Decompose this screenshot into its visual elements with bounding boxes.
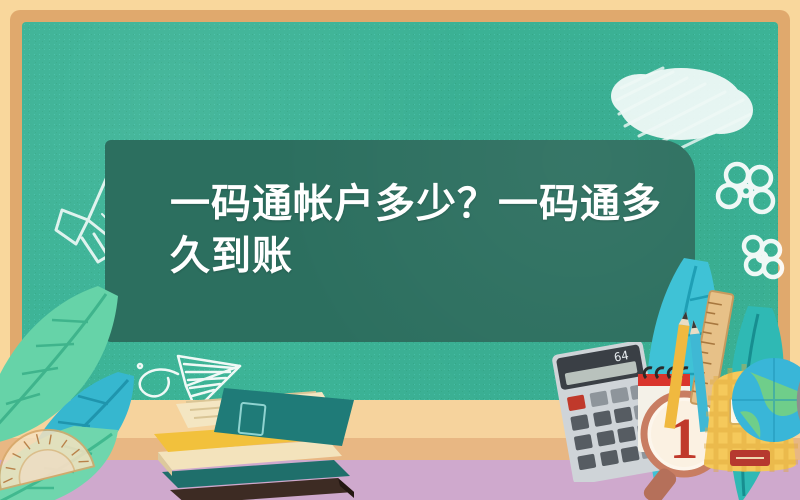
banner-image: 一码通帐户多少？一码通多久到账 — [0, 0, 800, 500]
globe-icon — [716, 350, 800, 460]
protractor-icon — [0, 416, 98, 494]
flower-chalk-icon-large — [712, 158, 782, 224]
calculator-display-value: 64 — [613, 348, 630, 364]
stacked-books-icon — [128, 386, 428, 500]
